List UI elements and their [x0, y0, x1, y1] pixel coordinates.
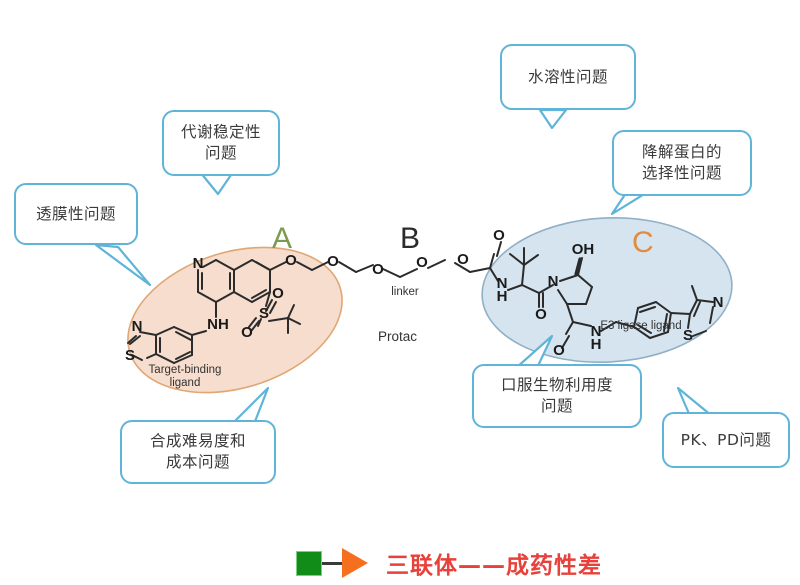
label-letter-b: B: [400, 222, 420, 256]
bubble-metabolic-stability[interactable]: 代谢稳定性 问题: [162, 110, 280, 176]
bubble-water-solubility-text: 水溶性问题: [528, 67, 608, 88]
atom-H-amide-left: H: [497, 288, 508, 305]
label-letter-c: C: [632, 226, 654, 260]
atom-S-thiazole-left: S: [125, 347, 135, 364]
bubble-degradation-selectivity-text: 降解蛋白的 选择性问题: [642, 142, 722, 184]
atom-O-peg-2: O: [372, 261, 384, 278]
bubble-oral-bioavailability[interactable]: 口服生物利用度 问题: [472, 364, 642, 428]
atom-S-sulfonyl: S: [259, 305, 269, 322]
atom-OH-hydroxyproline: OH: [572, 241, 595, 258]
atom-O-amide-right: O: [553, 342, 565, 359]
bubble-synthesis-cost-text: 合成难易度和 成本问题: [150, 431, 246, 473]
bubble-water-solubility[interactable]: 水溶性问题: [500, 44, 636, 110]
atom-O-amide-left: O: [493, 227, 505, 244]
legend-orange-arrow-icon: [342, 548, 368, 578]
bubble-degradation-selectivity[interactable]: 降解蛋白的 选择性问题: [612, 130, 752, 196]
bubble-synthesis-cost[interactable]: 合成难易度和 成本问题: [120, 420, 276, 484]
bubble-pk-pd-text: PK、PD问题: [681, 430, 772, 451]
atom-O-peg-1: O: [327, 253, 339, 270]
bubble-oral-bioavailability-text: 口服生物利用度 问题: [501, 375, 613, 417]
label-e3-ligase-ligand: E3 ligase ligand: [580, 320, 702, 333]
atom-NH-aniline: NH: [207, 316, 229, 333]
atom-N-thiazole-right: N: [713, 294, 724, 311]
bubble-permeability-text: 透膜性问题: [36, 204, 116, 225]
bubble-metabolic-stability-text: 代谢稳定性 问题: [181, 122, 261, 164]
atom-H-amide-right: H: [591, 336, 602, 353]
atom-O-proline-carbonyl: O: [535, 306, 547, 323]
atom-O-peg-4: O: [457, 251, 469, 268]
label-protac: Protac: [378, 329, 417, 344]
label-letter-a: A: [272, 222, 292, 256]
legend-marker: [296, 548, 368, 578]
ellipse-e3-ligase-ligand: [478, 212, 735, 369]
atom-N-thiazole-left: N: [132, 318, 143, 335]
atom-O-sulfonyl-up: O: [272, 285, 284, 302]
bubble-permeability[interactable]: 透膜性问题: [14, 183, 138, 245]
atom-O-sulfonyl-down: O: [241, 324, 253, 341]
label-linker: linker: [375, 286, 435, 299]
label-target-binding-ligand: Target-binding ligand: [130, 364, 240, 390]
bubble-pk-pd[interactable]: PK、PD问题: [662, 412, 790, 468]
atom-O-peg-3: O: [416, 254, 428, 271]
legend-caption: 三联体——成药性差: [386, 546, 602, 580]
protac-diagram: N NH N S O S O O O O O O: [0, 0, 800, 585]
legend-green-square: [296, 551, 322, 576]
legend-connector-line: [322, 562, 344, 565]
atom-N-quinoline: N: [193, 255, 204, 272]
atom-N-pyrrolidine: N: [548, 273, 559, 290]
